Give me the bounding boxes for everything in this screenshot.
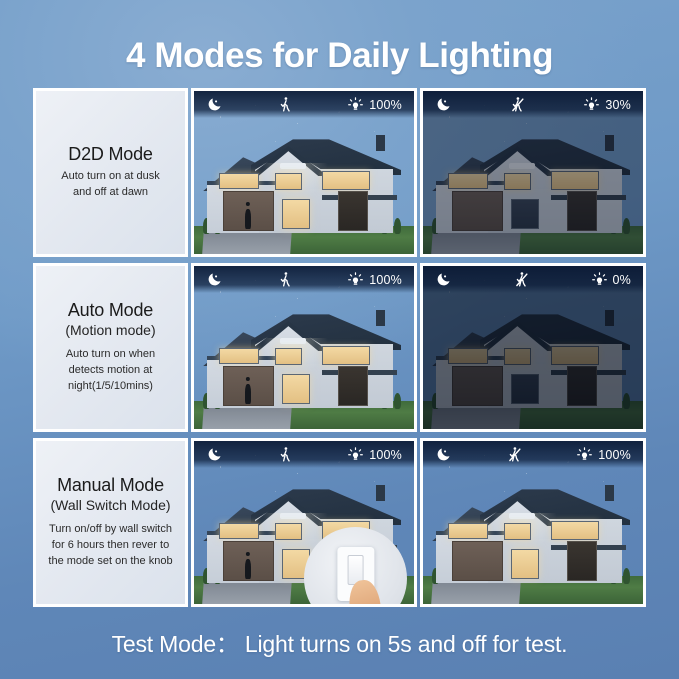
moon-icon bbox=[206, 96, 223, 113]
window bbox=[282, 374, 310, 404]
motion-person-icon bbox=[277, 96, 294, 113]
scene-d2d-dawn: 30% bbox=[420, 88, 646, 257]
front-door bbox=[567, 541, 597, 581]
scene-auto-idle: 0% bbox=[420, 263, 646, 432]
mode-subtitle: (Motion mode) bbox=[65, 322, 155, 339]
brightness-value: 100% bbox=[598, 448, 631, 462]
window bbox=[511, 549, 539, 579]
scene-d2d-dusk: 100% bbox=[191, 88, 417, 257]
house bbox=[207, 133, 405, 232]
window bbox=[219, 523, 259, 539]
window bbox=[275, 523, 303, 540]
mode-card-manual: Manual Mode (Wall Switch Mode) Turn on/o… bbox=[33, 438, 188, 607]
window bbox=[275, 173, 303, 190]
test-mode-label: Test Mode： bbox=[112, 631, 239, 657]
scene-auto-motion: 100% bbox=[191, 263, 417, 432]
front-door bbox=[338, 191, 368, 231]
light-bulb-icon: 0% bbox=[591, 271, 631, 288]
brightness-value: 100% bbox=[369, 448, 402, 462]
status-icon-bar: 100% bbox=[194, 266, 414, 293]
chimney bbox=[605, 485, 615, 501]
mode-title: Auto Mode bbox=[68, 300, 153, 321]
no-motion-person-icon bbox=[509, 96, 526, 113]
status-icon-bar: 0% bbox=[423, 266, 643, 293]
mode-row-manual: Manual Mode (Wall Switch Mode) Turn on/o… bbox=[33, 438, 646, 607]
mode-description: Turn on/off by wall switchfor 6 hours th… bbox=[48, 522, 172, 570]
chimney bbox=[376, 485, 386, 501]
brightness-value: 100% bbox=[369, 273, 402, 287]
window bbox=[322, 171, 370, 190]
modes-list: D2D Mode Auto turn on at duskand off at … bbox=[0, 88, 679, 607]
window bbox=[282, 199, 310, 229]
light-bulb-icon: 100% bbox=[347, 446, 402, 463]
status-icon-bar: 30% bbox=[423, 91, 643, 118]
motion-person-icon bbox=[277, 446, 294, 463]
mode-row-d2d: D2D Mode Auto turn on at duskand off at … bbox=[33, 88, 646, 257]
scene-manual-switch: 100% bbox=[191, 438, 417, 607]
window bbox=[275, 348, 303, 365]
chimney bbox=[376, 135, 386, 151]
moon-icon bbox=[206, 446, 223, 463]
window bbox=[448, 523, 488, 539]
moon-icon bbox=[435, 446, 452, 463]
mode-title: Manual Mode bbox=[57, 475, 164, 496]
status-icon-bar: 100% bbox=[423, 441, 643, 468]
no-motion-person-icon bbox=[513, 271, 530, 288]
security-light-fixture bbox=[509, 513, 535, 519]
brightness-value: 0% bbox=[613, 273, 631, 287]
mode-card-d2d: D2D Mode Auto turn on at duskand off at … bbox=[33, 88, 188, 257]
chimney bbox=[376, 310, 386, 326]
driveway bbox=[431, 580, 521, 604]
person-figure bbox=[245, 559, 251, 579]
moon-icon bbox=[206, 271, 223, 288]
security-light-fixture bbox=[280, 338, 306, 344]
light-bulb-icon: 100% bbox=[576, 446, 631, 463]
window bbox=[322, 346, 370, 365]
mode-description: Auto turn on whendetects motion atnight(… bbox=[66, 347, 155, 395]
test-mode-footer: Test Mode： Light turns on 5s and off for… bbox=[0, 613, 679, 659]
window bbox=[504, 523, 532, 540]
motion-person-icon bbox=[277, 271, 294, 288]
light-bulb-icon: 100% bbox=[347, 96, 402, 113]
brightness-value: 30% bbox=[605, 98, 631, 112]
moon-icon bbox=[435, 96, 452, 113]
status-icon-bar: 100% bbox=[194, 91, 414, 118]
garage-door bbox=[452, 541, 503, 581]
house bbox=[207, 308, 405, 407]
front-door bbox=[338, 366, 368, 406]
window bbox=[219, 348, 259, 364]
window bbox=[219, 173, 259, 189]
window bbox=[551, 521, 599, 540]
mode-row-auto: Auto Mode (Motion mode) Auto turn on whe… bbox=[33, 263, 646, 432]
no-motion-person-icon bbox=[506, 446, 523, 463]
brightness-value: 100% bbox=[369, 98, 402, 112]
scene-manual-on: 100% bbox=[420, 438, 646, 607]
light-bulb-icon: 100% bbox=[347, 271, 402, 288]
page-title: 4 Modes for Daily Lighting bbox=[0, 0, 679, 88]
mode-card-auto: Auto Mode (Motion mode) Auto turn on whe… bbox=[33, 263, 188, 432]
security-light-fixture bbox=[280, 513, 306, 519]
moon-icon bbox=[435, 271, 452, 288]
status-icon-bar: 100% bbox=[194, 441, 414, 468]
mode-subtitle: (Wall Switch Mode) bbox=[50, 497, 170, 514]
person-figure bbox=[245, 209, 251, 229]
mode-description: Auto turn on at duskand off at dawn bbox=[61, 169, 159, 201]
light-bulb-icon: 30% bbox=[583, 96, 631, 113]
test-mode-text: Light turns on 5s and off for test. bbox=[245, 631, 567, 657]
security-light-fixture bbox=[280, 163, 306, 169]
mode-title: D2D Mode bbox=[68, 144, 152, 165]
house bbox=[436, 483, 634, 582]
person-figure bbox=[245, 384, 251, 404]
